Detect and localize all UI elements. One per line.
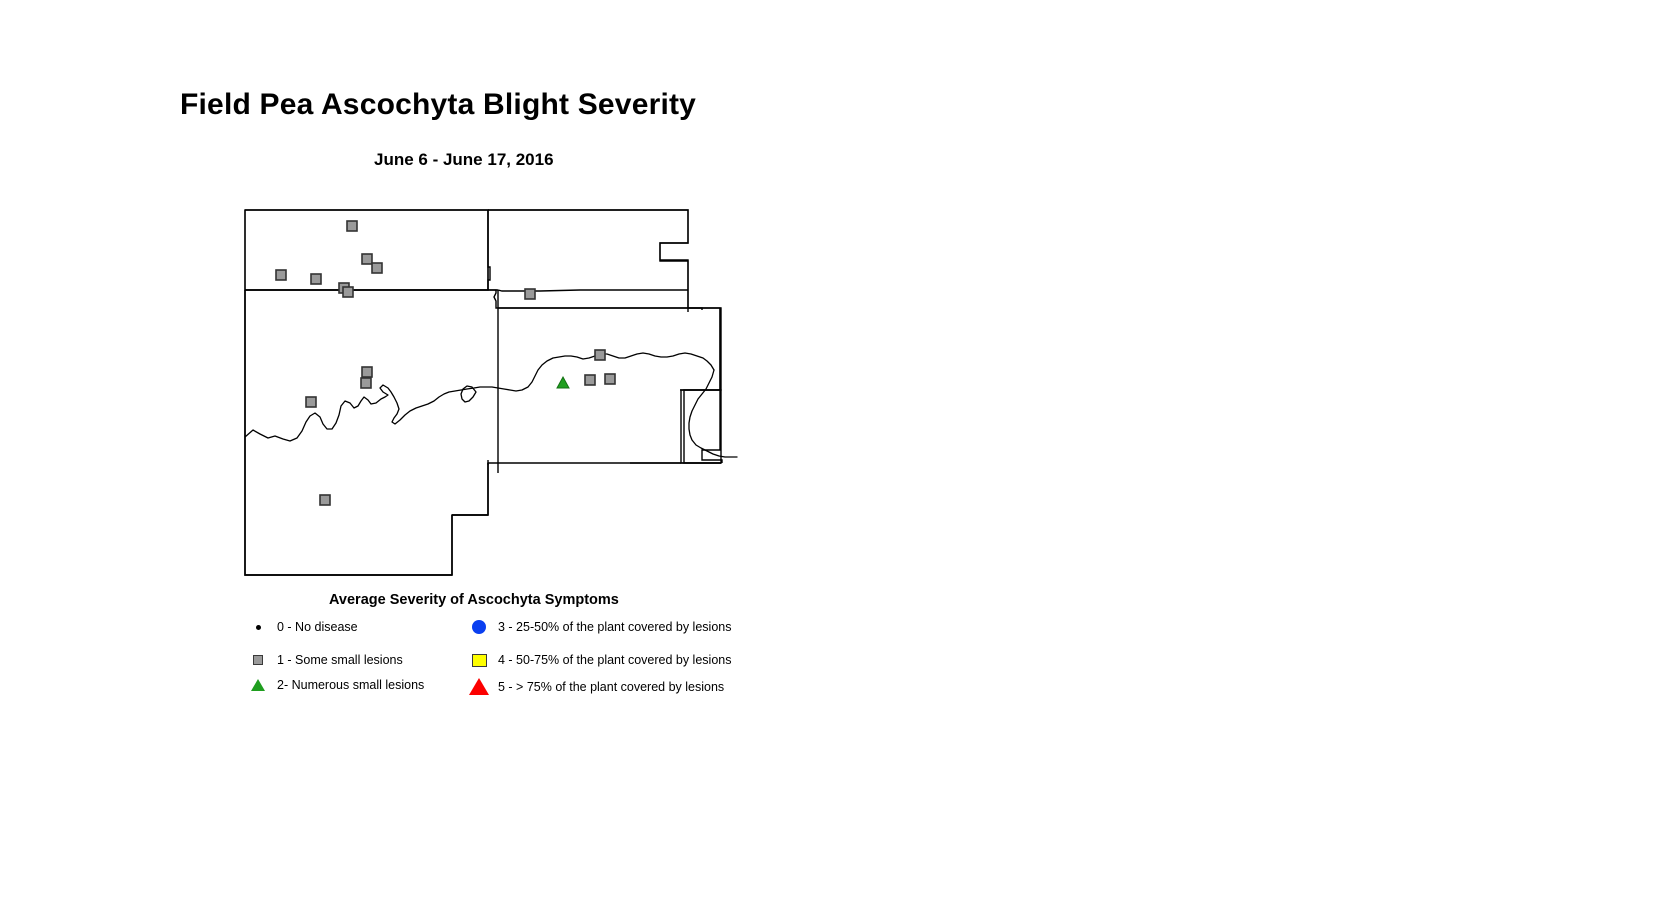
marker-severity-1 xyxy=(276,270,286,280)
gray-square-marker xyxy=(245,655,271,665)
marker-severity-1 xyxy=(362,254,372,264)
legend-item-label: 1 - Some small lesions xyxy=(277,653,403,667)
legend-item-severity-5: 5 - > 75% of the plant covered by lesion… xyxy=(466,678,724,695)
page-title: Field Pea Ascochyta Blight Severity xyxy=(180,88,696,122)
legend-item-severity-1: 1 - Some small lesions xyxy=(245,653,403,667)
legend-item-label: 4 - 50-75% of the plant covered by lesio… xyxy=(498,653,731,667)
marker-severity-1 xyxy=(585,375,595,385)
marker-severity-1 xyxy=(320,495,330,505)
legend-item-severity-0: 0 - No disease xyxy=(245,620,358,634)
marker-severity-1 xyxy=(362,367,372,377)
marker-severity-1 xyxy=(361,378,371,388)
river-boundary xyxy=(245,353,737,457)
yellow-square-marker xyxy=(466,654,492,667)
legend-item-label: 5 - > 75% of the plant covered by lesion… xyxy=(498,680,724,694)
blue-circle-marker xyxy=(466,620,492,634)
marker-severity-1 xyxy=(372,263,382,273)
legend-item-severity-4: 4 - 50-75% of the plant covered by lesio… xyxy=(466,653,731,667)
legend-item-severity-2: 2- Numerous small lesions xyxy=(245,678,424,692)
marker-severity-1 xyxy=(343,287,353,297)
marker-severity-2 xyxy=(557,377,569,388)
marker-severity-1 xyxy=(595,350,605,360)
legend-item-label: 0 - No disease xyxy=(277,620,358,634)
map-subtitle: June 6 - June 17, 2016 xyxy=(374,150,554,170)
marker-severity-1 xyxy=(306,397,316,407)
legend-item-severity-3: 3 - 25-50% of the plant covered by lesio… xyxy=(466,620,731,634)
legend-item-label: 2- Numerous small lesions xyxy=(277,678,424,692)
legend-item-label: 3 - 25-50% of the plant covered by lesio… xyxy=(498,620,731,634)
marker-severity-1 xyxy=(347,221,357,231)
map-page: Field Pea Ascochyta Blight Severity June… xyxy=(0,0,1673,900)
marker-severity-1 xyxy=(311,274,321,284)
map-figure xyxy=(240,205,740,590)
marker-severity-1 xyxy=(605,374,615,384)
red-triangle-marker xyxy=(466,678,492,695)
green-triangle-marker xyxy=(245,679,271,691)
dot-marker xyxy=(245,625,271,630)
map-outline-overlay xyxy=(245,210,721,575)
marker-severity-1 xyxy=(525,289,535,299)
county-boundaries xyxy=(245,210,722,575)
legend-title: Average Severity of Ascochyta Symptoms xyxy=(329,592,619,608)
